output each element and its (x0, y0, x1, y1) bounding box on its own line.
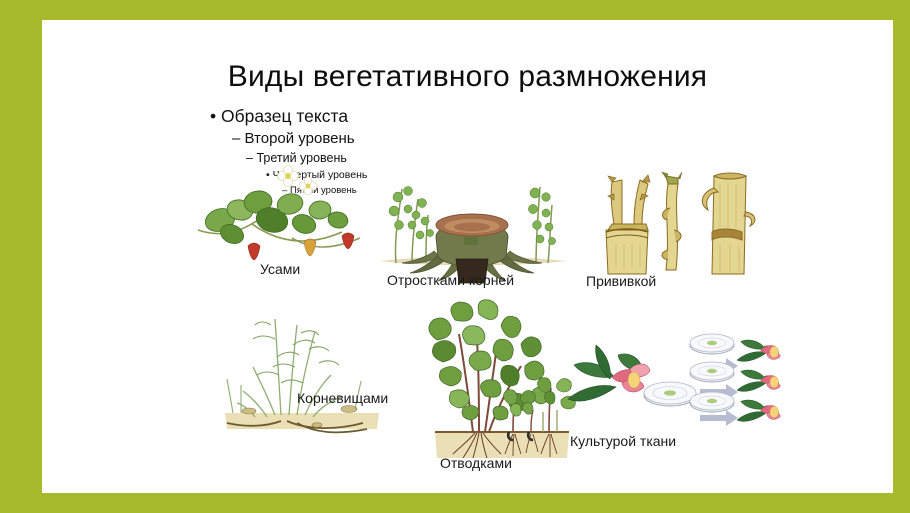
petri-dish-clone-3 (690, 392, 734, 412)
placeholder-level-1: • Образец текста (210, 105, 510, 127)
figure-stump-root-suckers (372, 175, 572, 285)
slide-border: Виды вегетативного размножения • Образец… (0, 0, 910, 513)
clone-orchid-3 (737, 400, 780, 421)
graft-twisted-scion (662, 172, 682, 270)
graft-cleft-with-scions (606, 175, 650, 274)
caption-tissue-culture-orchid: Культурой ткани (570, 433, 676, 449)
placeholder-level-2-label: Второй уровень (245, 130, 355, 147)
page-title: Виды вегетативного размножения (42, 60, 893, 94)
caption-strawberry-runners: Усами (260, 261, 300, 277)
placeholder-level-2: – Второй уровень (232, 129, 510, 149)
petri-dish-source (644, 382, 696, 406)
bullet-glyph-2: – (232, 130, 240, 147)
bullet-glyph-1: • (210, 106, 216, 126)
petri-dish-clone-2 (690, 362, 734, 382)
figure-strawberry-runners (192, 158, 382, 268)
strawberry-leaves (202, 189, 349, 247)
caption-stump-root-suckers: Отростками корней (387, 272, 514, 288)
root-sucker-left-leaves (389, 187, 434, 240)
clone-orchid-1 (737, 340, 780, 361)
placeholder-level-1-label: Образец текста (221, 106, 348, 126)
figure-grafting (562, 170, 762, 280)
figure-rhizome-grass (197, 305, 397, 435)
petri-dish-clone-1 (690, 334, 734, 354)
caption-layering-currant: Отводками (440, 455, 512, 471)
strawberry-flowers (278, 166, 318, 196)
arrow-to-dish-3 (700, 410, 738, 426)
strawberry-fruits (248, 233, 354, 260)
caption-grafting: Прививкой (586, 273, 656, 289)
clone-orchid-2 (737, 370, 780, 391)
slide-canvas: Виды вегетативного размножения • Образец… (42, 20, 893, 493)
caption-rhizome-grass: Корневищами (297, 390, 388, 406)
parent-orchid (568, 345, 650, 401)
graft-bark-insert (702, 173, 755, 274)
figure-tissue-culture-orchid (560, 325, 780, 440)
